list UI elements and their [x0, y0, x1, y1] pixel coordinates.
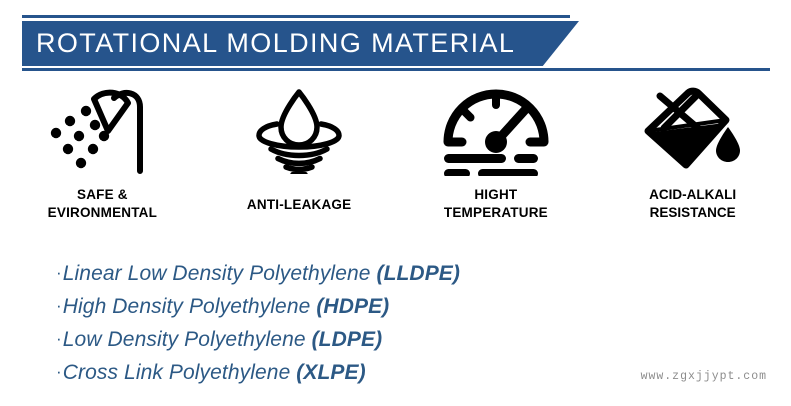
feature-item-acid-alkali-resistance: ACID-ALKALI RESISTANCE	[594, 82, 791, 250]
header-rule-bottom	[22, 68, 770, 71]
site-watermark: www.zgxjjypt.com	[641, 370, 767, 383]
feature-item-safe-environmental: SAFE & EVIRONMENTAL	[4, 82, 201, 250]
material-abbr: (XLPE)	[296, 361, 365, 384]
feature-item-anti-leakage: ANTI-LEAKAGE	[201, 82, 398, 250]
material-name: Cross Link Polyethylene	[63, 361, 291, 384]
material-abbr: (HDPE)	[316, 295, 389, 318]
material-list: ·Linear Low Density Polyethylene (LLDPE)…	[56, 258, 576, 390]
list-item: ·Cross Link Polyethylene (XLPE)	[56, 357, 576, 390]
list-item: ·Linear Low Density Polyethylene (LLDPE)	[56, 258, 576, 291]
feature-item-high-temperature: HIGHT TEMPERATURE	[398, 82, 595, 250]
feature-label: ANTI-LEAKAGE	[247, 196, 351, 214]
material-abbr: (LLDPE)	[376, 262, 460, 285]
material-name: Linear Low Density Polyethylene	[63, 262, 371, 285]
page-title: ROTATIONAL MOLDING MATERIAL	[22, 28, 515, 59]
material-abbr: (LDPE)	[312, 328, 383, 351]
water-drop-icon	[247, 82, 351, 178]
feature-label: SAFE & EVIRONMENTAL	[48, 186, 157, 222]
feature-list: SAFE & EVIRONMENTAL ANTI-LEAKAGE	[0, 82, 791, 250]
header-rule-top	[22, 15, 570, 18]
feature-label: HIGHT TEMPERATURE	[444, 186, 548, 222]
page-header: ROTATIONAL MOLDING MATERIAL	[0, 0, 791, 78]
bullet-marker: ·	[56, 296, 63, 315]
list-item: ·Low Density Polyethylene (LDPE)	[56, 324, 576, 357]
bullet-marker: ·	[56, 263, 63, 282]
acid-bucket-icon	[640, 82, 746, 178]
feature-label: ACID-ALKALI RESISTANCE	[649, 186, 736, 222]
header-title-bar: ROTATIONAL MOLDING MATERIAL	[22, 21, 579, 66]
bullet-marker: ·	[56, 362, 63, 381]
material-name: High Density Polyethylene	[63, 295, 311, 318]
list-item: ·High Density Polyethylene (HDPE)	[56, 291, 576, 324]
speedometer-icon	[438, 82, 554, 178]
bullet-marker: ·	[56, 329, 63, 348]
shower-icon	[48, 82, 156, 178]
material-name: Low Density Polyethylene	[63, 328, 306, 351]
